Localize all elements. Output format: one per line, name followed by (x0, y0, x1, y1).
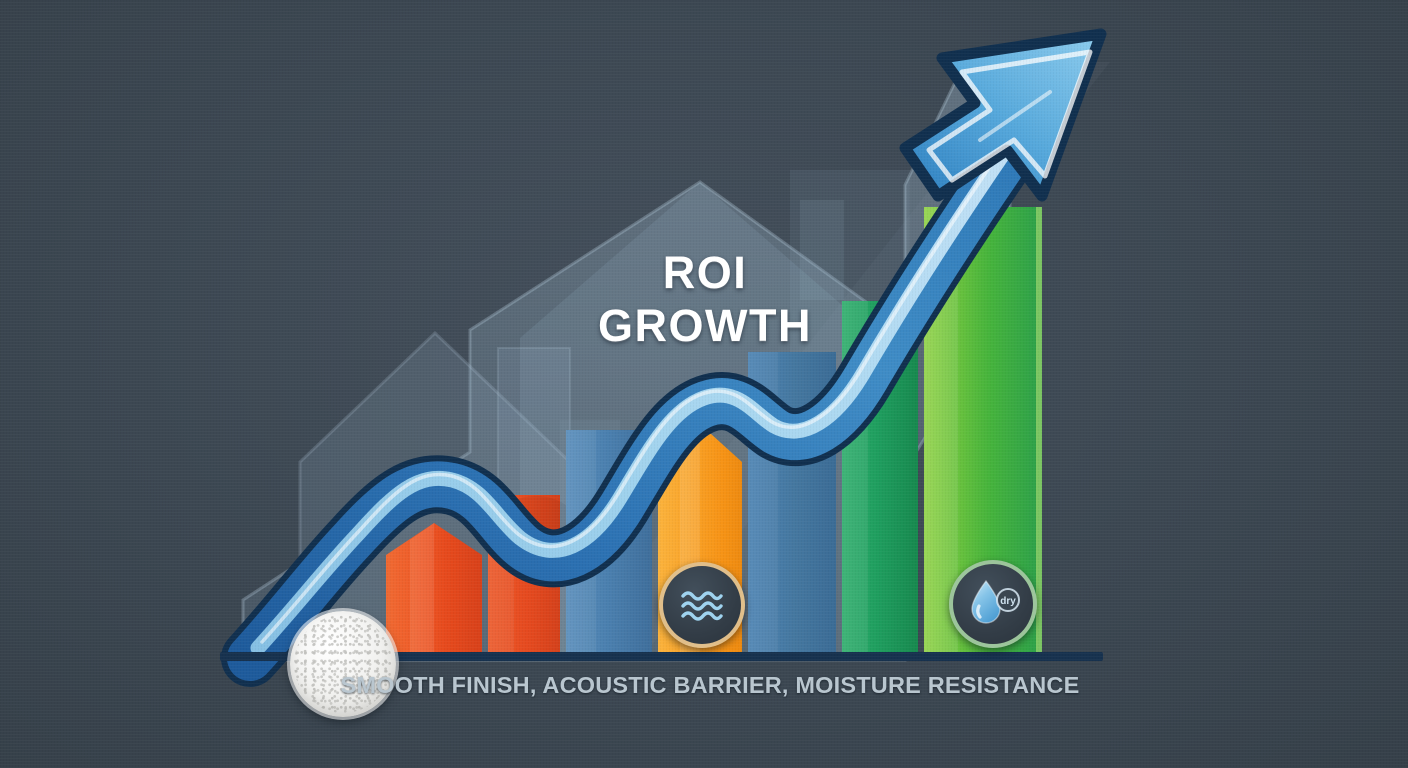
acoustic-waves-icon (659, 562, 745, 648)
roi-growth-illustration (0, 0, 1408, 768)
dry-badge-label: dry (1000, 596, 1016, 607)
infographic-canvas: dry ROI GROWTH SMOOTH FINISH, ACOUSTIC B… (0, 0, 1408, 768)
smooth-finish-sample-icon (290, 611, 396, 717)
feature-caption: SMOOTH FINISH, ACOUSTIC BARRIER, MOISTUR… (210, 672, 1210, 699)
water-droplet-dry-icon: dry (949, 560, 1037, 648)
